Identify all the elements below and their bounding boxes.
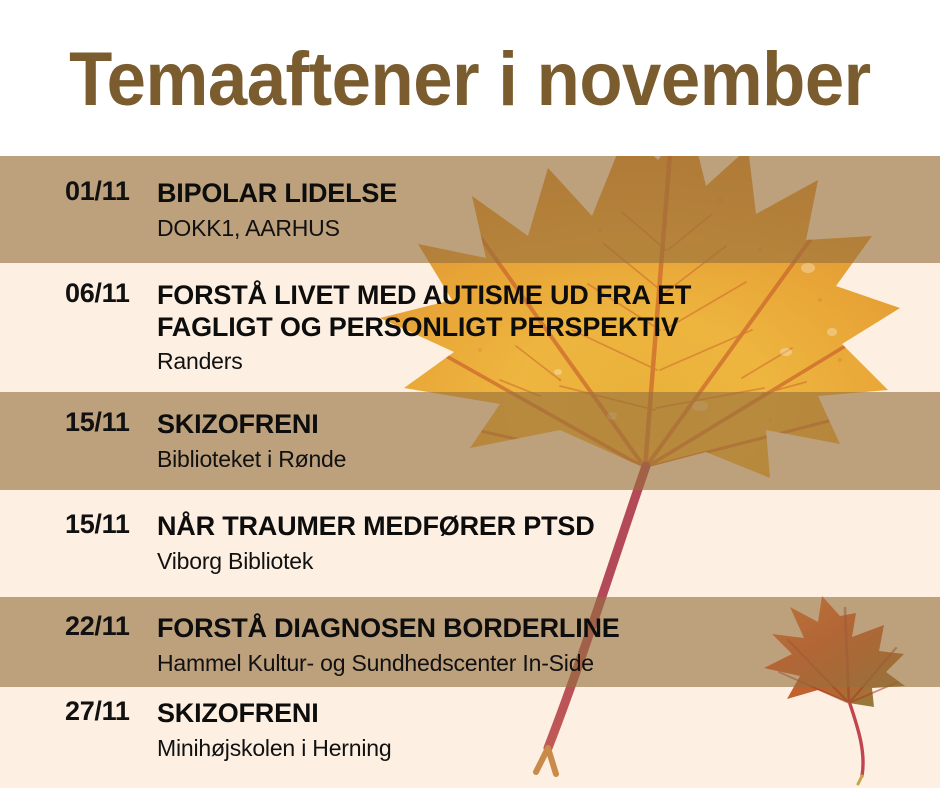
event-title: NÅR TRAUMER MEDFØRER PTSD [157,511,940,543]
schedule-row[interactable]: 15/11 SKIZOFRENI Biblioteket i Rønde [0,409,940,473]
event-date: 27/11 [0,698,157,725]
page-title: Temaaftener i november [69,42,871,118]
event-venue: Biblioteket i Rønde [157,446,940,474]
header: Temaaftener i november [0,0,940,156]
event-date: 15/11 [0,511,157,538]
schedule-row[interactable]: 01/11 BIPOLAR LIDELSE DOKK1, AARHUS [0,178,940,242]
event-date: 15/11 [0,409,157,436]
event-title: FORSTÅ LIVET MED AUTISME UD FRA ET FAGLI… [157,280,940,343]
event-details: SKIZOFRENI Minihøjskolen i Herning [157,698,940,762]
event-details: BIPOLAR LIDELSE DOKK1, AARHUS [157,178,940,242]
event-venue: Minihøjskolen i Herning [157,735,940,763]
event-venue: Randers [157,348,940,376]
event-date: 22/11 [0,613,157,640]
event-title: SKIZOFRENI [157,698,940,730]
event-title: BIPOLAR LIDELSE [157,178,940,210]
event-title: FORSTÅ DIAGNOSEN BORDERLINE [157,613,940,645]
schedule-row[interactable]: 22/11 FORSTÅ DIAGNOSEN BORDERLINE Hammel… [0,613,940,677]
event-details: SKIZOFRENI Biblioteket i Rønde [157,409,940,473]
event-details: NÅR TRAUMER MEDFØRER PTSD Viborg Bibliot… [157,511,940,575]
event-details: FORSTÅ LIVET MED AUTISME UD FRA ET FAGLI… [157,280,940,376]
schedule-row[interactable]: 06/11 FORSTÅ LIVET MED AUTISME UD FRA ET… [0,280,940,376]
poster-canvas: Temaaftener i november 01/11 BIPOLAR LID… [0,0,940,788]
event-date: 01/11 [0,178,157,205]
event-title: SKIZOFRENI [157,409,940,441]
event-venue: DOKK1, AARHUS [157,215,940,243]
event-venue: Viborg Bibliotek [157,548,940,576]
event-details: FORSTÅ DIAGNOSEN BORDERLINE Hammel Kultu… [157,613,940,677]
event-date: 06/11 [0,280,157,307]
schedule-row[interactable]: 27/11 SKIZOFRENI Minihøjskolen i Herning [0,698,940,762]
event-venue: Hammel Kultur- og Sundhedscenter In-Side [157,650,940,678]
schedule-row[interactable]: 15/11 NÅR TRAUMER MEDFØRER PTSD Viborg B… [0,511,940,575]
